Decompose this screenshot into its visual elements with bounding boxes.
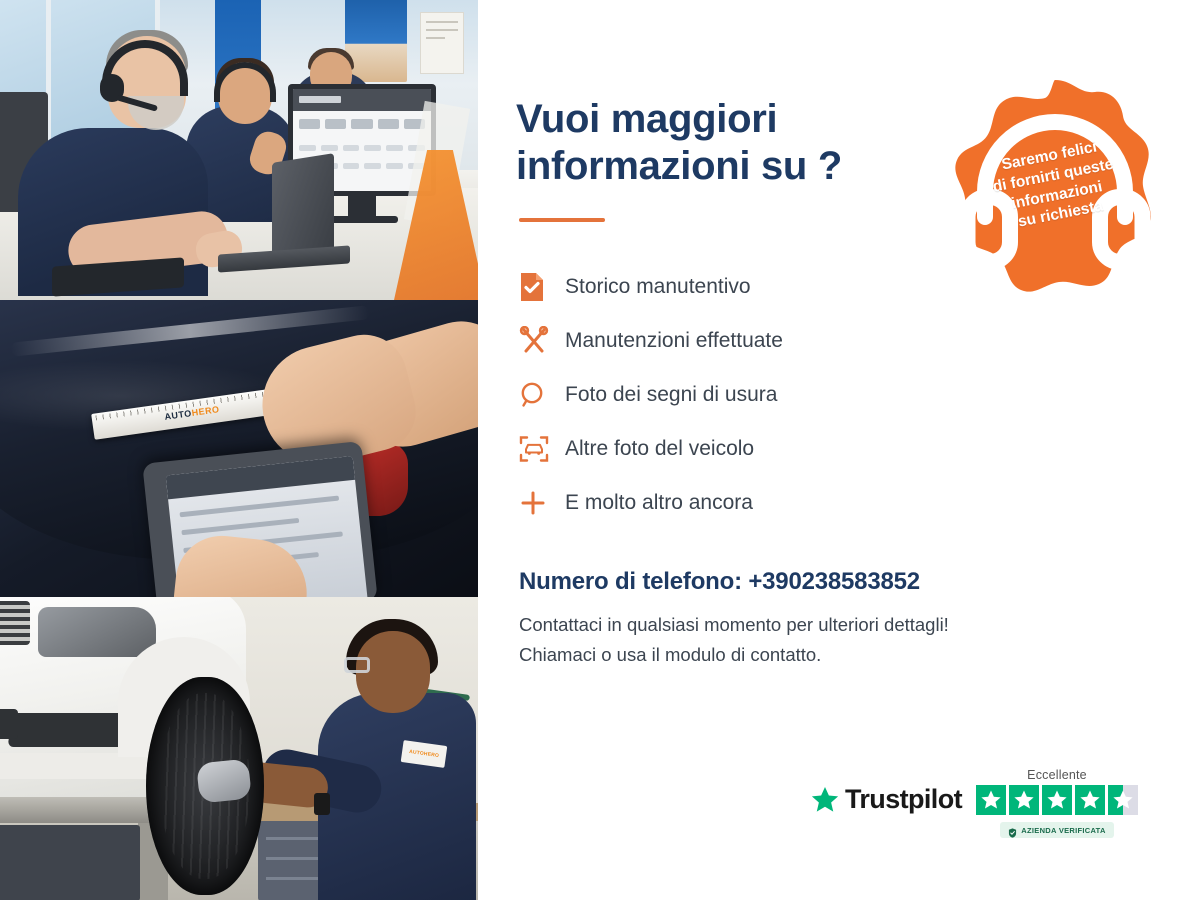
feature-label: E molto altro ancora — [565, 491, 753, 515]
feature-item-manutenzioni-effettuate: Manutenzioni effettuate — [519, 314, 1200, 368]
feature-item-altre-foto-veicolo: Altre foto del veicolo — [519, 422, 1200, 476]
contact-description: Contattaci in qualsiasi momento per ulte… — [519, 610, 1200, 670]
title-underline-divider — [519, 218, 605, 222]
star-filled — [1009, 785, 1039, 815]
headline-line-2: informazioni su ? — [516, 144, 842, 188]
feature-label: Storico manutentivo — [565, 275, 751, 299]
trustpilot-rating: Eccellente — [976, 768, 1138, 838]
trustpilot-logo[interactable]: Trustpilot — [810, 784, 962, 815]
phone-number-line[interactable]: Numero di telefono: +390238583852 — [519, 568, 1200, 596]
plus-icon — [519, 489, 565, 517]
contact-line-1: Contattaci in qualsiasi momento per ulte… — [519, 614, 949, 635]
verified-business-badge: AZIENDA VERIFICATA — [1000, 822, 1113, 838]
star-filled — [1042, 785, 1072, 815]
shield-check-icon — [1008, 825, 1017, 835]
star-rating — [976, 785, 1138, 815]
contact-block: Numero di telefono: +390238583852 Contat… — [519, 568, 1200, 670]
headset-icon — [1035, 104, 1075, 140]
mechanic-wheel-change-photo: AUTOHERO — [0, 597, 478, 900]
verified-badge-label: AZIENDA VERIFICATA — [1021, 826, 1105, 835]
call-center-agents-photo — [0, 0, 478, 300]
feature-label: Altre foto del veicolo — [565, 437, 754, 461]
page-title: Vuoi maggiori informazioni su ? — [516, 96, 946, 190]
contact-line-2: Chiamaci o usa il modulo di contatto. — [519, 644, 821, 665]
feature-item-foto-segni-usura: Foto dei segni di usura — [519, 368, 1200, 422]
tools-wrench-screwdriver-icon — [519, 326, 565, 356]
vehicle-inspection-ruler-photo: AUTOHERO — [0, 300, 478, 597]
star-filled — [976, 785, 1006, 815]
starburst-badge: Saremo felici di fornirti queste informa… — [955, 78, 1155, 296]
rating-label: Eccellente — [1027, 768, 1087, 782]
feature-list: Storico manutentivo Manutenzioni effettu… — [519, 260, 1200, 530]
trustpilot-star-icon — [810, 785, 840, 815]
trustpilot-wordmark: Trustpilot — [845, 784, 962, 815]
star-half — [1108, 785, 1138, 815]
feature-item-molto-altro: E molto altro ancora — [519, 476, 1200, 530]
feature-label: Foto dei segni di usura — [565, 383, 777, 407]
photo-column: AUTOHERO — [0, 0, 478, 900]
headline-line-1: Vuoi maggiori — [516, 97, 777, 141]
magnifier-icon — [519, 381, 565, 409]
car-scan-frame-icon — [519, 434, 565, 464]
star-filled — [1075, 785, 1105, 815]
feature-label: Manutenzioni effettuate — [565, 329, 783, 353]
trustpilot-widget[interactable]: Trustpilot Eccellente — [810, 768, 1138, 838]
promo-banner: AUTOHERO — [0, 0, 1200, 900]
document-check-icon — [519, 272, 565, 302]
